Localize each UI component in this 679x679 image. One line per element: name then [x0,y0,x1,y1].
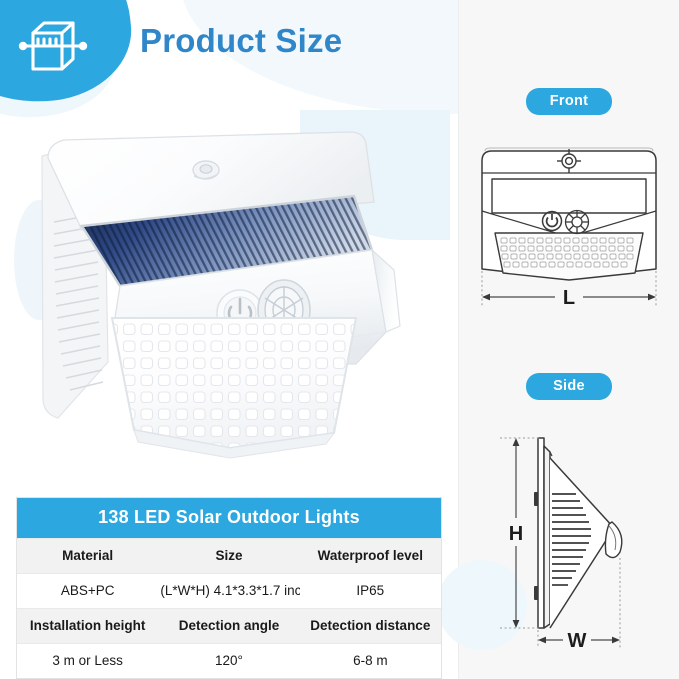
table-data-cell: 120° [158,644,299,678]
left-panel: Product Size [0,0,458,679]
front-view-block: Front [459,88,679,315]
table-data-cell: 6-8 m [300,644,441,678]
dimension-H: H [500,438,540,628]
table-header-cell: Size [158,539,299,573]
front-view-badge: Front [526,88,612,115]
table-row: ABS+PC (L*W*H) 4.1*3.3*1.7 inch IP65 [17,573,441,608]
mounting-screw-icon [193,161,219,179]
product-photo [34,118,434,466]
table-header-cell: Material [17,539,158,573]
dimension-label-H: H [509,523,523,545]
spec-table: 138 LED Solar Outdoor Lights Material Si… [16,497,442,679]
table-header-cell: Detection distance [300,609,441,643]
table-data-cell: (L*W*H) 4.1*3.3*1.7 inch [158,574,299,608]
page-title: Product Size [140,22,342,60]
table-row: 3 m or Less 120° 6-8 m [17,643,441,678]
spec-table-title: 138 LED Solar Outdoor Lights [17,498,441,538]
table-header-cell: Detection angle [158,609,299,643]
table-data-cell: 3 m or Less [17,644,158,678]
table-row: Installation height Detection angle Dete… [17,608,441,643]
dimension-label-L: L [563,287,575,309]
front-view-drawing: L [464,115,674,315]
box-measure-icon [16,9,90,83]
table-data-cell: IP65 [300,574,441,608]
header: Product Size [0,0,458,110]
table-header-cell: Installation height [17,609,158,643]
table-row: Material Size Waterproof level [17,538,441,573]
right-panel: Front [459,0,679,679]
side-view-block: Side [459,373,679,655]
side-view-drawing: H W [464,400,674,655]
dimension-label-W: W [568,630,587,652]
table-header-cell: Waterproof level [300,539,441,573]
infographic-page: Product Size [0,0,679,679]
table-data-cell: ABS+PC [17,574,158,608]
side-view-badge: Side [526,373,612,400]
